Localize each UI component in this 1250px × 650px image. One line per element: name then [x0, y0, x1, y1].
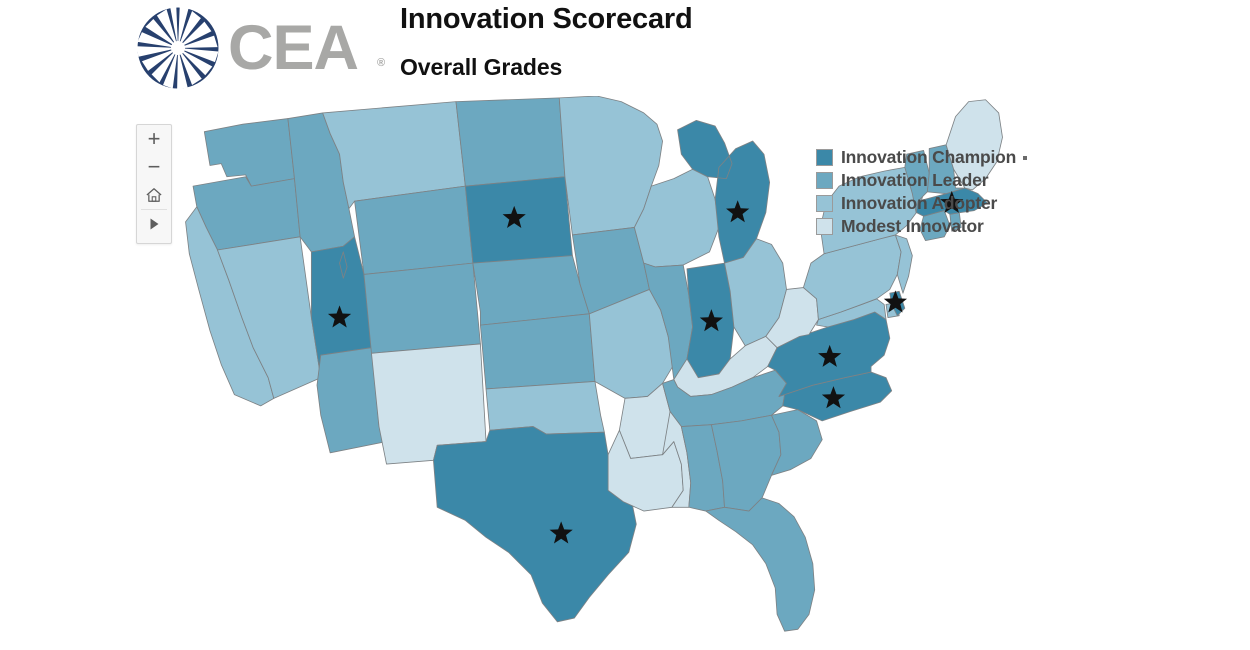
us-map-svg[interactable]: Washington — Innovation LeaderOregon — I…	[0, 96, 1250, 650]
cea-wordmark: CEA	[228, 8, 358, 88]
zoom-in-button[interactable]: +	[137, 125, 171, 153]
state-wy[interactable]: Wyoming — Innovation Leader	[355, 186, 473, 274]
map-zoom-controls[interactable]: + −	[136, 124, 172, 244]
innovation-scorecard-page: CEA ® Innovation Scorecard Overall Grade…	[0, 0, 1250, 650]
title-block: Innovation Scorecard Overall Grades	[400, 0, 693, 82]
cea-logo: CEA ®	[132, 2, 380, 94]
page-title: Innovation Scorecard	[400, 0, 693, 38]
legend-label-adopter: Innovation Adopter	[841, 193, 997, 214]
legend-label-champion: Innovation Champion	[841, 147, 1016, 168]
minus-icon: −	[148, 160, 161, 174]
legend-swatch-adopter	[816, 195, 833, 212]
state-ne[interactable]: Nebraska — Innovation Leader	[473, 256, 589, 325]
legend-swatch-champion	[816, 149, 833, 166]
state-in[interactable]: Indiana — Innovation Champion	[687, 263, 734, 378]
us-choropleth-map[interactable]: Washington — Innovation LeaderOregon — I…	[0, 96, 1250, 650]
play-icon	[147, 217, 161, 231]
expand-play-button[interactable]	[141, 209, 167, 237]
state-sd[interactable]: South Dakota — Innovation Champion	[465, 177, 572, 263]
legend-label-leader: Innovation Leader	[841, 170, 988, 191]
legend-tick-icon	[1023, 156, 1027, 160]
state-ks[interactable]: Kansas — Innovation Leader	[480, 314, 595, 389]
legend-label-modest: Modest Innovator	[841, 216, 984, 237]
plus-icon: +	[148, 129, 161, 149]
zoom-out-button[interactable]: −	[137, 153, 171, 181]
state-co[interactable]: Colorado — Innovation Leader	[364, 263, 480, 353]
home-button[interactable]	[137, 181, 171, 209]
legend-item-innovation-champion[interactable]: Innovation Champion	[816, 146, 1027, 169]
state-wa[interactable]: Washington — Innovation Leader	[204, 119, 294, 187]
registered-mark: ®	[377, 57, 385, 69]
legend-item-modest-innovator[interactable]: Modest Innovator	[816, 215, 1027, 238]
page-header: CEA ® Innovation Scorecard Overall Grade…	[0, 0, 1250, 100]
state-ok[interactable]: Oklahoma — Innovation Adopter	[486, 381, 604, 434]
state-fl[interactable]: Florida — Innovation Leader	[706, 498, 815, 631]
legend-swatch-modest	[816, 218, 833, 235]
home-icon	[145, 187, 163, 203]
legend-item-innovation-leader[interactable]: Innovation Leader	[816, 169, 1027, 192]
legend-item-innovation-adopter[interactable]: Innovation Adopter	[816, 192, 1027, 215]
cea-starburst-logo-icon	[132, 4, 224, 92]
state-tx[interactable]: Texas — Innovation Champion	[433, 427, 636, 622]
state-nd[interactable]: North Dakota — Innovation Leader	[456, 98, 565, 186]
map-legend: Innovation Champion Innovation Leader In…	[816, 146, 1027, 238]
legend-swatch-leader	[816, 172, 833, 189]
page-subtitle: Overall Grades	[400, 52, 693, 82]
